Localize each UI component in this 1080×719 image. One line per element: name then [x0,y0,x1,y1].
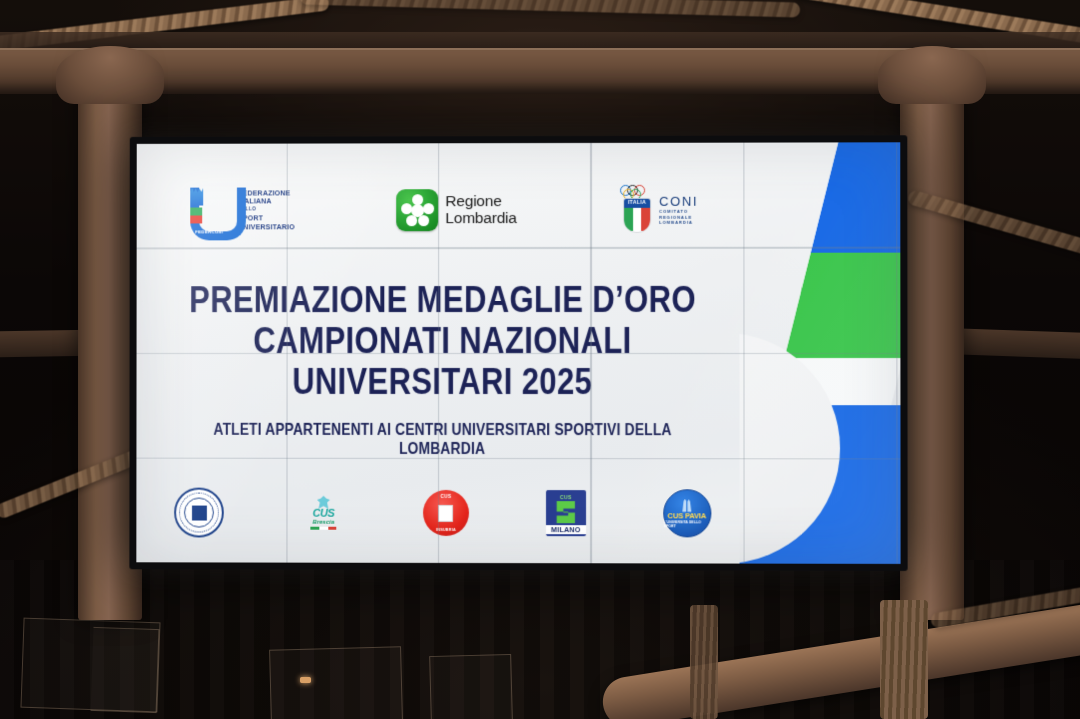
coni-sub-3: LOMBARDIA [659,220,698,225]
partner-logo-row: FEDERCUSI FEDERAZIONE ITALIANA DELLO SPO… [137,173,750,248]
support-column [900,60,964,620]
towers-icon [679,499,695,512]
indicator-light [300,677,311,683]
regione-line-1: Regione [445,193,516,210]
foreground-rope-column [880,600,928,719]
column-capital [878,46,986,104]
shield-text: ITALIA [624,199,650,208]
federcusi-line-5: UNIVERSITARIO [238,223,295,232]
wall-panel [429,654,513,719]
cus-insubria-label: CUS [423,494,469,499]
rose-camuna-icon [397,189,439,231]
band-green [784,253,900,358]
cus-bergamo-logo [174,488,224,538]
federcusi-mark-text: FEDERCUSI [187,229,231,234]
headline-line-2: CAMPIONATI NAZIONALI UNIVERSITARI 2025 [185,320,700,402]
coni-label: CONI COMITATO REGIONALE LOMBARDIA [659,194,698,225]
slide-subtitle: ATLETI APPARTENENTI AI CENTRI UNIVERSITA… [185,421,700,459]
cus-milano-label: CUS [560,495,572,501]
band-blue-top [811,142,901,252]
regione-lombardia-logo: Regione Lombardia [397,189,517,231]
arena-scene: FEDERCUSI FEDERAZIONE ITALIANA DELLO SPO… [0,0,1080,719]
led-video-wall: FEDERCUSI FEDERAZIONE ITALIANA DELLO SPO… [129,135,907,571]
olympic-rings-icon [620,185,652,198]
italia-shield-icon: ITALIA [623,198,651,233]
biscione-icon [554,501,578,523]
screen-surface: FEDERCUSI FEDERAZIONE ITALIANA DELLO SPO… [136,142,900,564]
federcusi-label: FEDERAZIONE ITALIANA DELLO SPORT UNIVERS… [238,189,295,232]
regione-line-2: Lombardia [445,210,516,227]
federcusi-line-3: DELLO [238,206,295,215]
cus-milano-sub: MILANO [546,525,586,534]
column-capital [56,46,164,104]
cus-milano-logo: CUS MILANO [546,490,586,536]
cus-brescia-logo: CUS Brescia [301,490,347,536]
cus-brescia-label: CUS [313,509,335,520]
federcusi-line-1: FEDERAZIONE [238,189,295,198]
cus-insubria-logo: CUS INSUBRIA [423,490,469,536]
foreground-rope-column [690,605,718,719]
federcusi-line-2: ITALIANA [238,198,295,207]
coni-title: CONI [659,194,698,209]
wall-panel [91,627,160,713]
regione-lombardia-label: Regione Lombardia [445,193,516,227]
cus-brescia-sub: Brescia [313,520,335,526]
cus-insubria-sub: INSUBRIA [423,528,469,532]
cus-logo-row: CUS Brescia CUS INSUBRIA CUS MILANO [136,485,749,542]
federcusi-line-4: SPORT [238,215,295,224]
federcusi-logo: FEDERCUSI FEDERAZIONE ITALIANA DELLO SPO… [187,185,294,235]
headline-line-1: PREMIAZIONE MEDAGLIE D’ORO [185,279,700,320]
cus-pavia-sub: L’UNIVERSITA DELLO SPORT [664,520,710,528]
wall-panel [269,646,403,719]
tricolour-decoration [739,142,900,564]
cus-pavia-logo: CUS PAVIA L’UNIVERSITA DELLO SPORT [663,489,711,537]
cus-pavia-label: CUS PAVIA [668,512,707,520]
federcusi-icon: FEDERCUSI [187,186,231,236]
presentation-slide: FEDERCUSI FEDERAZIONE ITALIANA DELLO SPO… [136,142,900,564]
coni-lombardia-logo: ITALIA CONI COMITATO REGIO [619,185,698,235]
coni-emblem: ITALIA [619,185,653,235]
slide-headline: PREMIAZIONE MEDAGLIE D’ORO CAMPIONATI NA… [136,279,749,459]
